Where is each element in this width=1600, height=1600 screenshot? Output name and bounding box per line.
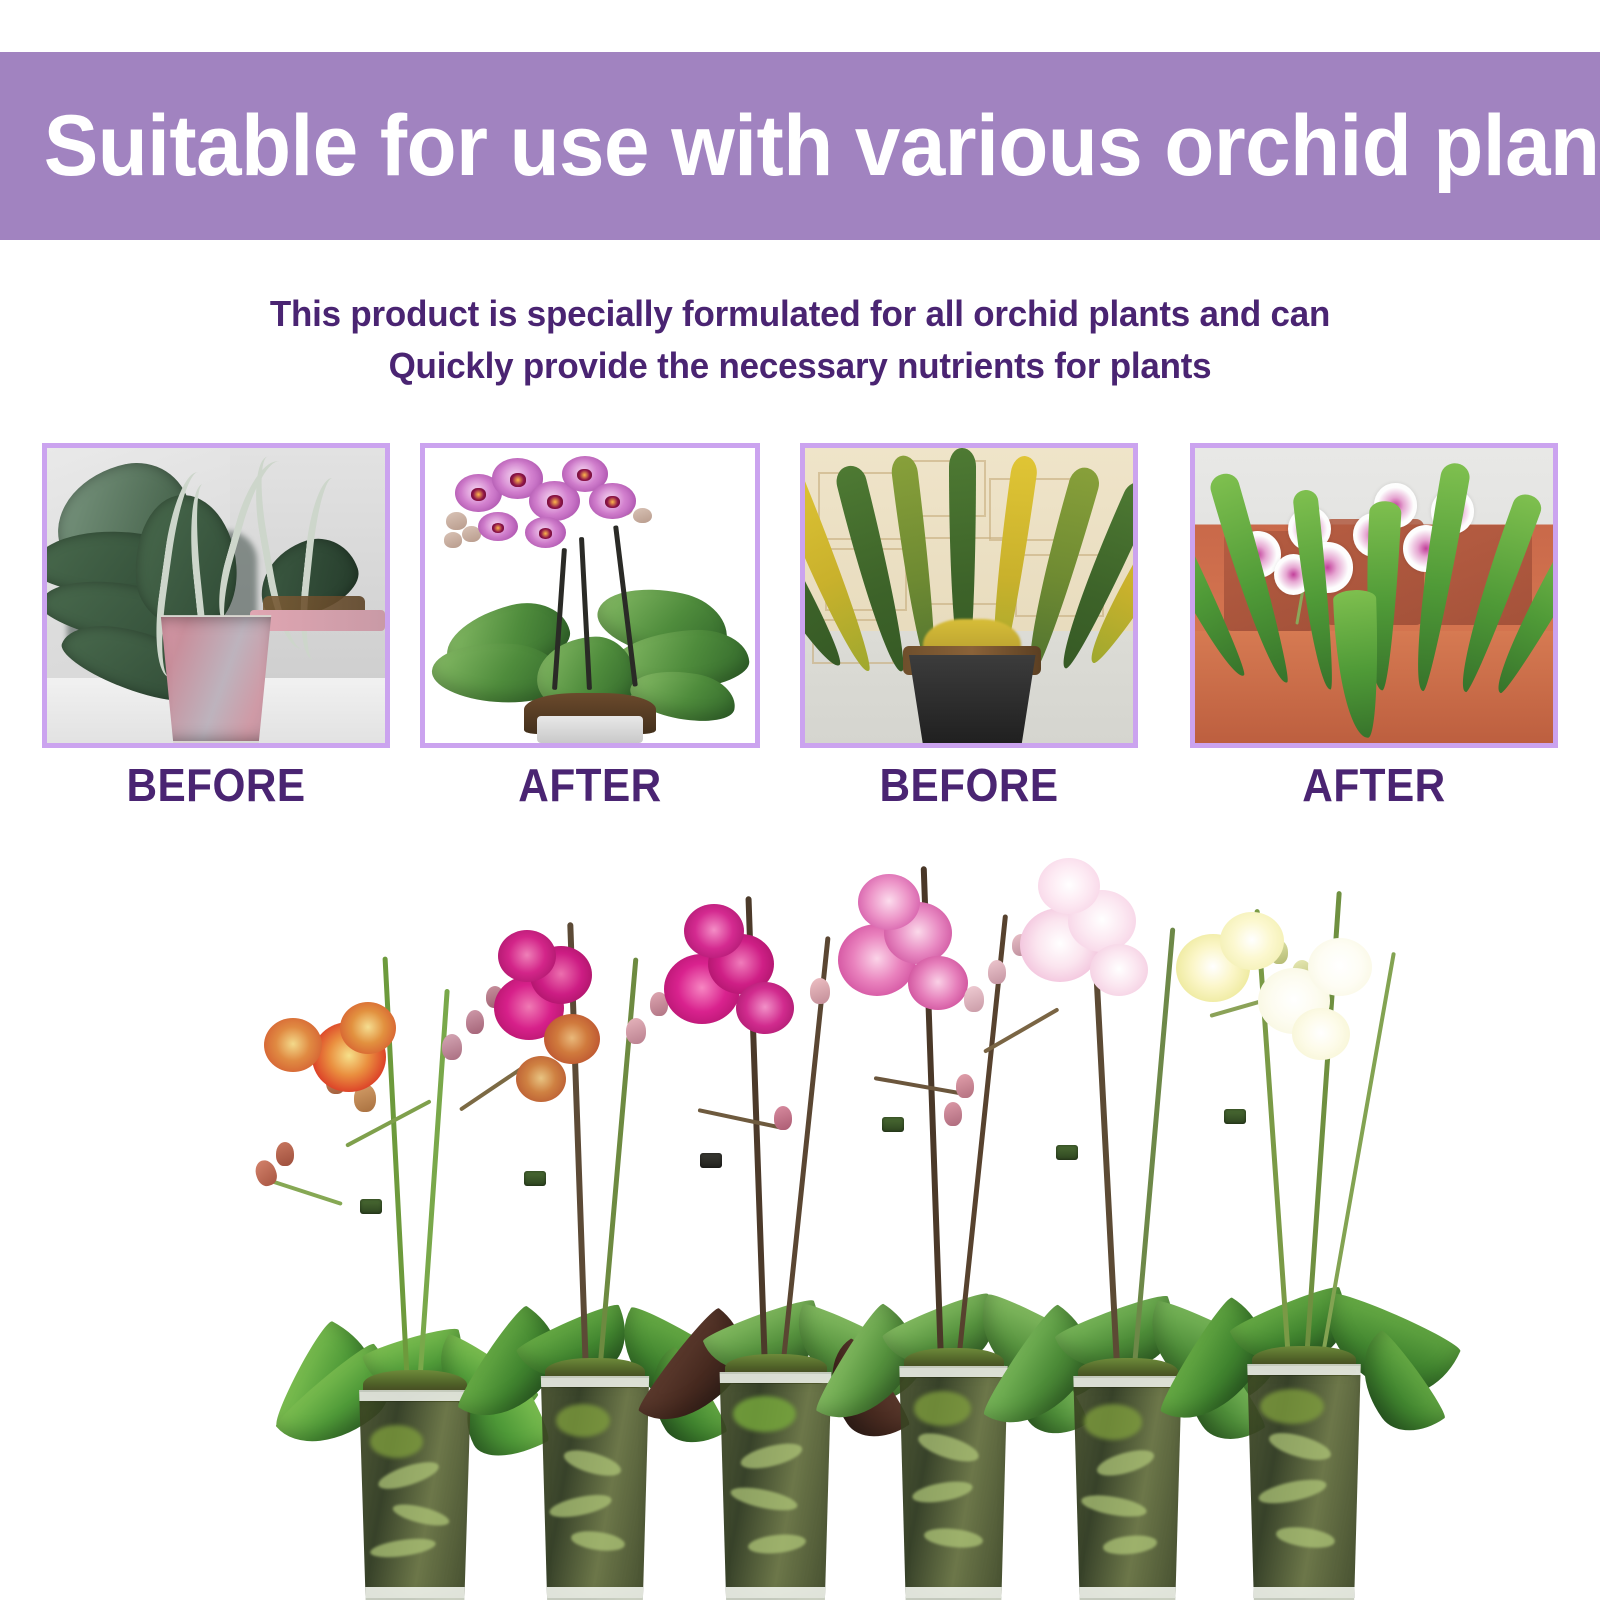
hero-plant-6: [1204, 840, 1404, 1600]
photo-healthy-purple-orchid: [425, 448, 755, 743]
hero-plant-2: [500, 840, 690, 1600]
header-banner: Suitable for use with various orchid pla…: [0, 52, 1600, 240]
subtitle-line-1: This product is specially formulated for…: [24, 288, 1576, 340]
photo-yellowing-orchid-leaves: [805, 448, 1133, 743]
comparison-label-1: BEFORE: [56, 758, 376, 812]
product-infographic: Suitable for use with various orchid pla…: [0, 0, 1600, 1600]
subtitle-block: This product is specially formulated for…: [0, 288, 1600, 392]
nursery-pot-1: [350, 1390, 480, 1600]
photo-sick-orchid-aerial-roots: [47, 448, 385, 743]
subtitle-line-2: Quickly provide the necessary nutrients …: [24, 340, 1576, 392]
comparison-cell-1: BEFORE: [42, 443, 390, 812]
before-after-row: BEFORE AFTER: [0, 443, 1600, 803]
comparison-photo-frame-3: [800, 443, 1138, 748]
hero-orchid-row-photo: [0, 805, 1600, 1600]
comparison-label-3: BEFORE: [814, 758, 1125, 812]
comparison-cell-2: AFTER: [420, 443, 760, 812]
hero-plant-1: [320, 840, 510, 1600]
comparison-label-4: AFTER: [1205, 758, 1544, 812]
comparison-photo-frame-2: [420, 443, 760, 748]
comparison-photo-frame-1: [42, 443, 390, 748]
page-title: Suitable for use with various orchid pla…: [0, 103, 1600, 189]
nursery-pot-6: [1238, 1364, 1370, 1600]
comparison-photo-frame-4: [1190, 443, 1558, 748]
comparison-cell-4: AFTER: [1190, 443, 1558, 812]
comparison-label-2: AFTER: [434, 758, 747, 812]
photo-revived-orchid-on-sofa: [1195, 448, 1553, 743]
comparison-cell-3: BEFORE: [800, 443, 1138, 812]
